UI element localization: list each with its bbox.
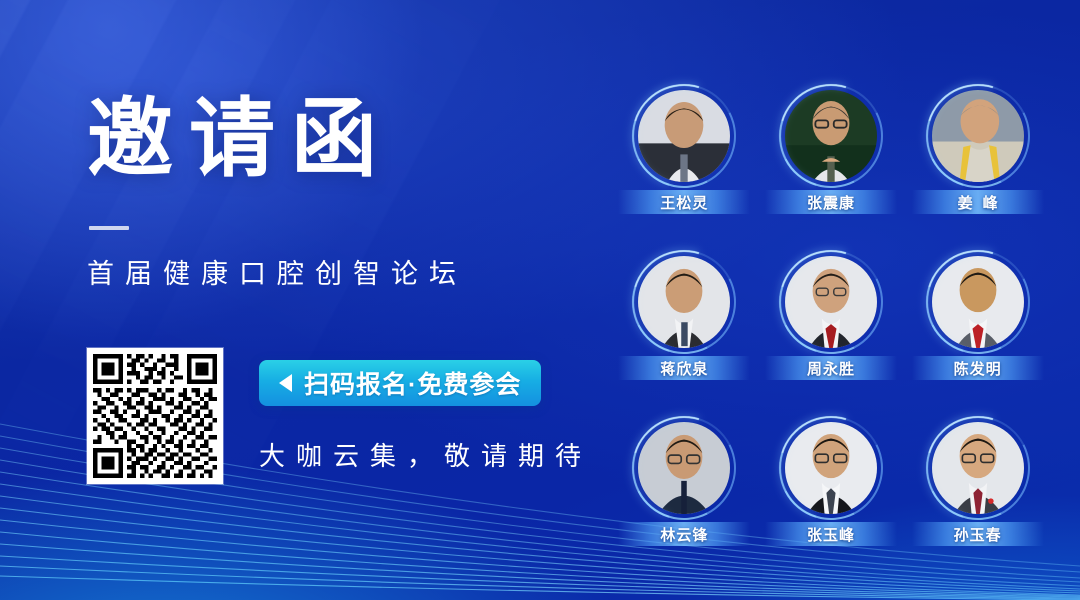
speaker-card[interactable]: 周永胜 (758, 256, 905, 380)
speaker-name-band: 王松灵 (618, 190, 750, 214)
qr-code-icon (93, 354, 217, 478)
speaker-name-band: 林云锋 (618, 522, 750, 546)
avatar-ring-arc (761, 66, 902, 207)
cta-text-block: 扫码报名·免费参会 大咖云集，敬请期待 (259, 348, 592, 473)
avatar (638, 256, 730, 348)
speaker-name: 孙玉春 (954, 524, 1002, 545)
avatar-ring-arc (761, 398, 902, 539)
avatar-ring-arc (907, 232, 1048, 373)
tagline: 大咖云集，敬请期待 (259, 436, 592, 473)
avatar (785, 256, 877, 348)
scan-register-label: 扫码报名·免费参会 (304, 365, 521, 401)
speaker-name: 张震康 (807, 192, 855, 213)
speaker-name-band: 周永胜 (765, 356, 897, 380)
avatar (932, 422, 1024, 514)
speaker-card[interactable]: 陈发明 (904, 256, 1051, 380)
registration-block: 扫码报名·免费参会 大咖云集，敬请期待 (87, 348, 592, 484)
avatar (932, 256, 1024, 348)
avatar-ring-arc (907, 398, 1048, 539)
avatar-ring-arc (614, 66, 755, 207)
avatar-ring-arc (907, 66, 1048, 207)
speaker-card[interactable]: 张震康 (758, 90, 905, 214)
speaker-grid: 王松灵 (611, 90, 1051, 546)
speaker-card[interactable]: 王松灵 (611, 90, 758, 214)
speaker-name: 王松灵 (660, 192, 708, 213)
speaker-name-band: 张玉峰 (765, 522, 897, 546)
qr-code[interactable] (87, 348, 223, 484)
left-triangle-icon (279, 374, 292, 392)
speaker-name: 陈发明 (954, 358, 1002, 379)
speaker-name-band: 蒋欣泉 (618, 356, 750, 380)
speaker-name: 林云锋 (660, 524, 708, 545)
invitation-poster: 邀请函 首届健康口腔创智论坛 (0, 0, 1080, 600)
speaker-name-band: 张震康 (765, 190, 897, 214)
scan-register-button[interactable]: 扫码报名·免费参会 (259, 360, 541, 406)
speaker-name: 姜峰 (948, 192, 1008, 213)
title-divider (89, 226, 129, 230)
avatar-ring-arc (761, 232, 902, 373)
speaker-name-band: 陈发明 (912, 356, 1044, 380)
avatar (785, 422, 877, 514)
speaker-card[interactable]: 林云锋 (611, 422, 758, 546)
speaker-name: 周永胜 (807, 358, 855, 379)
page-title: 邀请函 (87, 96, 587, 182)
speaker-name-band: 姜峰 (912, 190, 1044, 214)
avatar (638, 90, 730, 182)
avatar-ring-arc (614, 232, 755, 373)
speaker-card[interactable]: 姜峰 (904, 90, 1051, 214)
avatar (638, 422, 730, 514)
page-subtitle: 首届健康口腔创智论坛 (87, 252, 587, 291)
speaker-name: 张玉峰 (807, 524, 855, 545)
speaker-card[interactable]: 孙玉春 (904, 422, 1051, 546)
avatar (932, 90, 1024, 182)
speaker-card[interactable]: 蒋欣泉 (611, 256, 758, 380)
speaker-name: 蒋欣泉 (660, 358, 708, 379)
avatar-ring-arc (614, 398, 755, 539)
speaker-name-band: 孙玉春 (912, 522, 1044, 546)
avatar (785, 90, 877, 182)
headline-block: 邀请函 首届健康口腔创智论坛 (87, 96, 587, 291)
speaker-card[interactable]: 张玉峰 (758, 422, 905, 546)
